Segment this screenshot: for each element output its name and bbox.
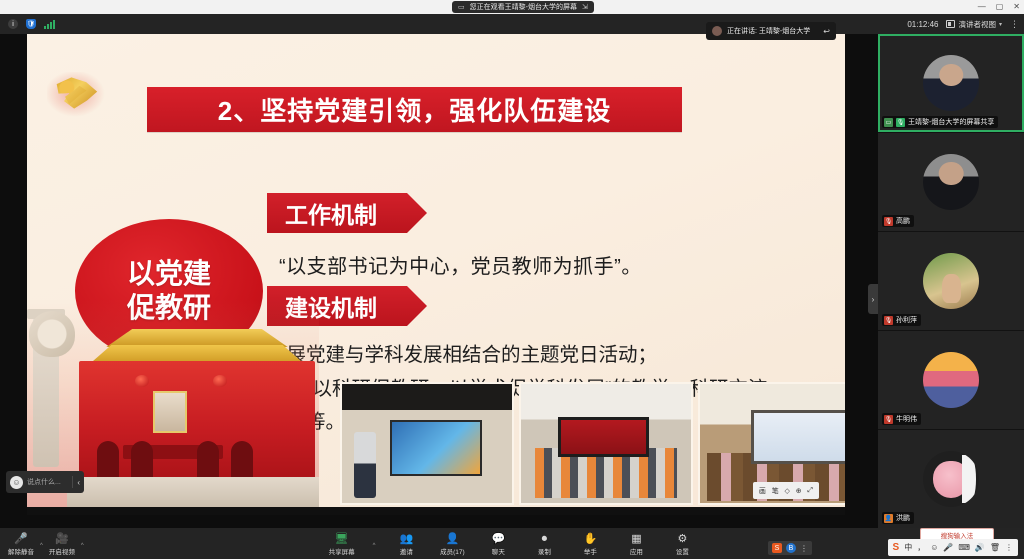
avatar [923, 352, 979, 408]
annotation-toolbar[interactable]: 画 笔 ◇ ⊕ ⤢ [753, 482, 819, 499]
ime-mini-bar[interactable]: S B ⋮ [768, 541, 812, 555]
annotation-shape-icon[interactable]: ◇ [785, 487, 790, 495]
participant-name-badge: 🎙 牛明伟 [882, 413, 921, 425]
chat-bubble-icon: 💬 [492, 532, 506, 545]
participants-button[interactable]: 👤 成员(17) [437, 532, 467, 556]
mic-muted-icon: 🎙 [884, 217, 893, 226]
ime-globe-icon[interactable]: B [786, 543, 796, 553]
slide-body-line-1: 开展党建与学科发展相结合的主题党日活动； [267, 339, 845, 373]
tag-work-mechanism: 工作机制 [267, 193, 427, 233]
screen-share-icon: ▭ [458, 3, 465, 11]
participant-rail[interactable]: ▭ 🎙 王靖黎-烟台大学的屏幕共享 🎙 高鹏 🎙 孙利萍 🎙 牛明伟 [878, 34, 1024, 528]
rail-collapse-handle[interactable]: › [868, 284, 878, 314]
header-status-icons: i 🛡 [8, 14, 55, 34]
record-icon: ⏺ [542, 532, 548, 545]
ime-more-icon[interactable]: ⋮ [800, 544, 808, 553]
participant-tile-1[interactable]: 🎙 高鹏 [878, 133, 1024, 232]
screen-share-icon: 🖥 [335, 532, 349, 545]
classroom-presentation-photo [340, 382, 514, 505]
video-options-caret-icon[interactable]: ^ [81, 543, 84, 549]
raise-hand-button[interactable]: ✋ 举手 [575, 532, 605, 556]
toolbar-left-group: 🎤 解除静音 ^ 🎥 开启视频 ^ [6, 532, 84, 556]
camera-muted-icon: 🎥 [55, 532, 69, 545]
ime-keyboard-icon[interactable]: ⌨ [958, 543, 970, 552]
start-video-button[interactable]: 🎥 开启视频 [47, 532, 77, 556]
info-icon[interactable]: i [8, 19, 18, 29]
minimize-button[interactable]: — [978, 3, 986, 11]
meeting-header: i 🛡 01:12:46 演讲者视图 ▾ ⋮ [0, 14, 1024, 34]
gear-icon: ⚙ [677, 532, 687, 545]
signal-bars-icon[interactable] [44, 20, 55, 29]
mic-on-icon: 🎙 [896, 118, 905, 127]
zoom-meeting-window: ▭ 您正在观看王靖黎-烟台大学的屏幕 ⇲ — ▢ ✕ i 🛡 01:12:46 … [0, 0, 1024, 559]
view-mode-label: 演讲者视图 [958, 19, 996, 30]
more-options-icon[interactable]: ⋮ [1010, 19, 1020, 30]
annotation-pen-icon[interactable]: 笔 [772, 486, 779, 496]
participant-name-badge: 👤 洪鹏 [882, 512, 914, 524]
record-button[interactable]: ⏺ 录制 [529, 532, 559, 556]
start-video-label: 开启视频 [49, 546, 75, 556]
window-titlebar: ▭ 您正在观看王靖黎-烟台大学的屏幕 ⇲ — ▢ ✕ [0, 0, 1024, 14]
divider [72, 476, 73, 488]
chat-button[interactable]: 💬 聊天 [483, 532, 513, 556]
shared-screen-area: 2、坚持党建引领，强化队伍建设 以党建 促教研 工作机制 “以支部书记为中心，党… [0, 34, 878, 528]
view-mode-selector[interactable]: 演讲者视图 ▾ [946, 19, 1002, 30]
unmute-label: 解除静音 [8, 546, 34, 556]
participant-tile-0[interactable]: ▭ 🎙 王靖黎-烟台大学的屏幕共享 [878, 34, 1024, 133]
quick-chat-input-bar[interactable]: ☺ 说点什么... ‹ [6, 471, 84, 493]
shield-icon[interactable]: 🛡 [26, 19, 36, 29]
presentation-slide: 2、坚持党建引领，强化队伍建设 以党建 促教研 工作机制 “以支部书记为中心，党… [27, 34, 845, 515]
ime-sound-icon[interactable]: 🔊 [975, 543, 985, 552]
record-label: 录制 [538, 546, 551, 556]
ime-toolbar[interactable]: S 中 ， ☺ 🎤 ⌨ 🔊 🗑 ⋮ [888, 539, 1018, 556]
annotation-stamp-icon[interactable]: ⊕ [796, 487, 802, 495]
share-options-caret-icon[interactable]: ^ [373, 543, 376, 549]
ime-toolbox-icon[interactable]: 🗑 [990, 543, 1000, 552]
slide-quote: “以支部书记为中心，党员教师为抓手”。 [279, 250, 839, 279]
viewing-screen-title: 您正在观看王靖黎-烟台大学的屏幕 [470, 2, 577, 12]
invite-user-icon: 👥 [400, 532, 414, 545]
share-screen-button[interactable]: 🖥 共享屏幕 [327, 532, 357, 556]
share-screen-label: 共享屏幕 [329, 546, 355, 556]
ime-voice-icon[interactable]: 🎤 [943, 543, 953, 552]
maximize-button[interactable]: ▢ [996, 3, 1004, 11]
avatar [923, 55, 979, 111]
speaking-now-toast: 正在讲话: 王靖黎-烟台大学 ↩ [706, 22, 836, 40]
slide-bottom-strip [27, 507, 845, 515]
window-controls: — ▢ ✕ [978, 0, 1020, 14]
raise-hand-icon: ✋ [584, 532, 598, 545]
host-icon: 👤 [884, 514, 893, 523]
badge-line-1: 以党建 [127, 257, 211, 291]
participant-tile-3[interactable]: 🎙 牛明伟 [878, 331, 1024, 430]
toolbar-center-group: 🖥 共享屏幕 ^ 👥 邀请 👤 成员(17) 💬 聊天 ⏺ 录制 ✋ [327, 532, 698, 556]
viewing-screen-pill: ▭ 您正在观看王靖黎-烟台大学的屏幕 ⇲ [452, 1, 594, 13]
slide-title-banner: 2、坚持党建引领，强化队伍建设 [147, 87, 682, 132]
meeting-toolbar: 🎤 解除静音 ^ 🎥 开启视频 ^ 🖥 共享屏幕 ^ 👥 邀请 👤 成员(1 [0, 528, 1024, 559]
mic-muted-icon: 🎤 [14, 532, 28, 545]
audio-options-caret-icon[interactable]: ^ [40, 543, 43, 549]
participants-icon: 👤 [446, 532, 460, 545]
apps-grid-icon: ▦ [631, 532, 641, 545]
party-emblem-icon [47, 72, 109, 120]
participant-name-badge: ▭ 🎙 王靖黎-烟台大学的屏幕共享 [882, 116, 998, 128]
unmute-button[interactable]: 🎤 解除静音 [6, 532, 36, 556]
apps-button[interactable]: ▦ 应用 [621, 532, 651, 556]
apps-label: 应用 [630, 546, 643, 556]
ime-language-toggle[interactable]: 中 [904, 542, 912, 553]
sogou-logo-icon[interactable]: S [893, 542, 900, 553]
ime-punctuation-icon[interactable]: ， [917, 542, 925, 553]
mic-muted-icon: 🎙 [884, 415, 893, 424]
meeting-timer: 01:12:46 [907, 20, 938, 29]
participants-label: 成员(17) [440, 546, 465, 556]
annotation-draw-icon[interactable]: 画 [759, 486, 766, 496]
participant-name-badge: 🎙 高鹏 [882, 215, 914, 227]
avatar [923, 154, 979, 210]
speaker-avatar [712, 26, 722, 36]
options-icon[interactable]: ⇲ [582, 3, 588, 11]
lecture-hall-audience-photo [519, 382, 693, 505]
settings-label: 设置 [676, 546, 689, 556]
settings-button[interactable]: ⚙ 设置 [667, 532, 697, 556]
avatar [923, 253, 979, 309]
participant-tile-4[interactable]: 👤 洪鹏 [878, 430, 1024, 528]
sogou-logo-icon[interactable]: S [772, 543, 782, 553]
avatar [923, 451, 979, 507]
return-icon[interactable]: ↩ [823, 27, 830, 36]
chevron-down-icon: ▾ [999, 21, 1002, 28]
participant-name: 高鹏 [896, 216, 910, 226]
participant-name: 牛明伟 [896, 414, 917, 424]
invite-label: 邀请 [400, 546, 413, 556]
participant-name: 洪鹏 [896, 513, 910, 523]
participant-name: 王靖黎-烟台大学的屏幕共享 [908, 117, 994, 127]
raise-hand-label: 举手 [584, 546, 597, 556]
close-button[interactable]: ✕ [1013, 3, 1020, 11]
ime-emoji-icon[interactable]: ☺ [930, 543, 938, 552]
participant-tile-2[interactable]: 🎙 孙利萍 [878, 232, 1024, 331]
mic-muted-icon: 🎙 [884, 316, 893, 325]
participant-name-badge: 🎙 孙利萍 [882, 314, 921, 326]
chat-expand-icon[interactable]: ‹ [77, 478, 80, 487]
header-right-controls: 01:12:46 演讲者视图 ▾ ⋮ [907, 14, 1020, 34]
ime-menu-icon[interactable]: ⋮ [1005, 543, 1013, 552]
chat-input[interactable]: 说点什么... [27, 477, 68, 487]
invite-button[interactable]: 👥 邀请 [391, 532, 421, 556]
speaking-now-label: 正在讲话: 王靖黎-烟台大学 [727, 26, 818, 36]
participant-name: 孙利萍 [896, 315, 917, 325]
chat-label: 聊天 [492, 546, 505, 556]
speaker-view-icon [946, 20, 955, 28]
share-icon: ▭ [884, 118, 893, 127]
annotation-expand-icon[interactable]: ⤢ [807, 487, 813, 495]
avatar: ☺ [10, 476, 23, 489]
